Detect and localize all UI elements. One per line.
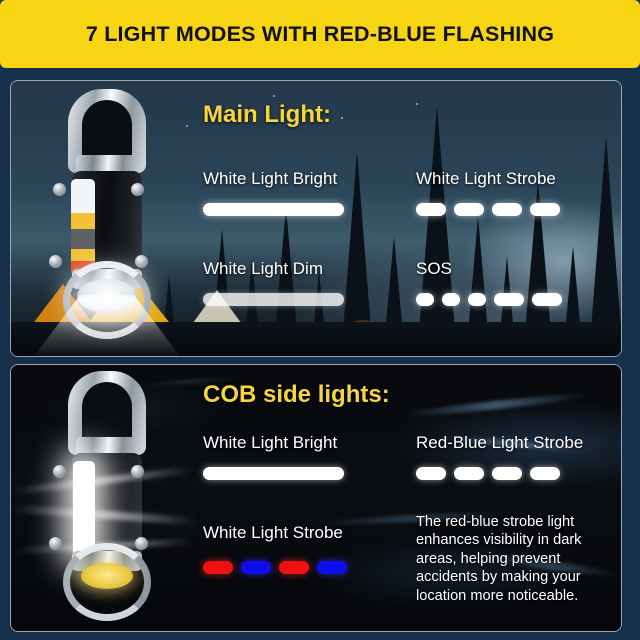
dash	[468, 293, 486, 306]
light-beam	[32, 295, 182, 357]
star	[341, 117, 343, 119]
mode-label: Red-Blue Light Strobe	[416, 433, 583, 453]
dash	[530, 203, 560, 216]
dash-blue	[241, 561, 271, 574]
dash-blue	[317, 561, 347, 574]
screw-right	[131, 465, 144, 478]
dash-red	[279, 561, 309, 574]
dash-red	[203, 561, 233, 574]
mode-cob-white-light-bright: White Light Bright	[203, 433, 337, 453]
dash	[416, 293, 434, 306]
mode-sos: SOS	[416, 259, 452, 279]
product-image-cob-light	[19, 365, 195, 631]
mode-label: SOS	[416, 259, 452, 279]
screw-left	[53, 465, 66, 478]
dash	[203, 293, 344, 306]
cob-segment-white	[71, 179, 95, 213]
mode-cob-white-light-strobe: White Light Strobe	[203, 523, 343, 543]
dash	[530, 467, 560, 480]
header-banner: 7 LIGHT MODES WITH RED-BLUE FLASHING	[0, 0, 640, 68]
dash	[203, 203, 344, 216]
dash	[492, 467, 522, 480]
dash	[454, 467, 484, 480]
mode-white-light-strobe: White Light Strobe	[416, 169, 556, 189]
mode-label: White Light Bright	[203, 169, 337, 189]
dash	[494, 293, 524, 306]
section-title-cob-side-lights: COB side lights:	[203, 381, 390, 409]
pattern-cob-red-blue-light-strobe	[416, 467, 560, 480]
screw-left	[53, 183, 66, 196]
pattern-cob-white-light-strobe	[203, 561, 347, 574]
mode-label: White Light Bright	[203, 433, 337, 453]
dash	[532, 293, 562, 306]
star	[273, 95, 275, 97]
pattern-white-light-strobe	[416, 203, 560, 216]
cob-light-strip	[71, 179, 95, 275]
dash	[492, 203, 522, 216]
dash	[416, 467, 446, 480]
mode-white-light-dim: White Light Dim	[203, 259, 323, 279]
screw-lower-left	[49, 537, 62, 550]
dash	[203, 467, 344, 480]
screw-lower-left	[49, 255, 62, 268]
cob-segment-yellow	[71, 249, 95, 261]
product-image-main-light	[19, 83, 195, 357]
panel-cob-side-lights: COB side lights: White Light Bright Red-…	[10, 364, 622, 632]
dash	[454, 203, 484, 216]
cob-segment-dark	[71, 229, 95, 249]
cob-segment-yellow	[71, 213, 95, 229]
mode-cob-red-blue-light-strobe: Red-Blue Light Strobe	[416, 433, 583, 453]
dash	[416, 203, 446, 216]
pattern-white-light-dim	[203, 293, 344, 306]
screw-lower-right	[135, 537, 148, 550]
red-blue-strobe-description: The red-blue strobe light enhances visib…	[416, 513, 621, 605]
main-light-bulb-off	[81, 563, 133, 589]
mode-white-light-bright: White Light Bright	[203, 169, 337, 189]
banner-title: 7 LIGHT MODES WITH RED-BLUE FLASHING	[86, 22, 554, 47]
mode-label: White Light Dim	[203, 259, 323, 279]
pattern-sos	[416, 293, 562, 306]
mode-label: White Light Strobe	[203, 523, 343, 543]
pattern-white-light-bright	[203, 203, 344, 216]
screw-right	[131, 183, 144, 196]
pattern-cob-white-light-bright	[203, 467, 344, 480]
section-title-main-light: Main Light:	[203, 101, 331, 129]
panel-main-light: Main Light: White Light Bright White Lig…	[10, 80, 622, 357]
star	[416, 103, 418, 105]
dash	[442, 293, 460, 306]
pine-tree	[417, 106, 457, 356]
mode-label: White Light Strobe	[416, 169, 556, 189]
screw-lower-right	[135, 255, 148, 268]
